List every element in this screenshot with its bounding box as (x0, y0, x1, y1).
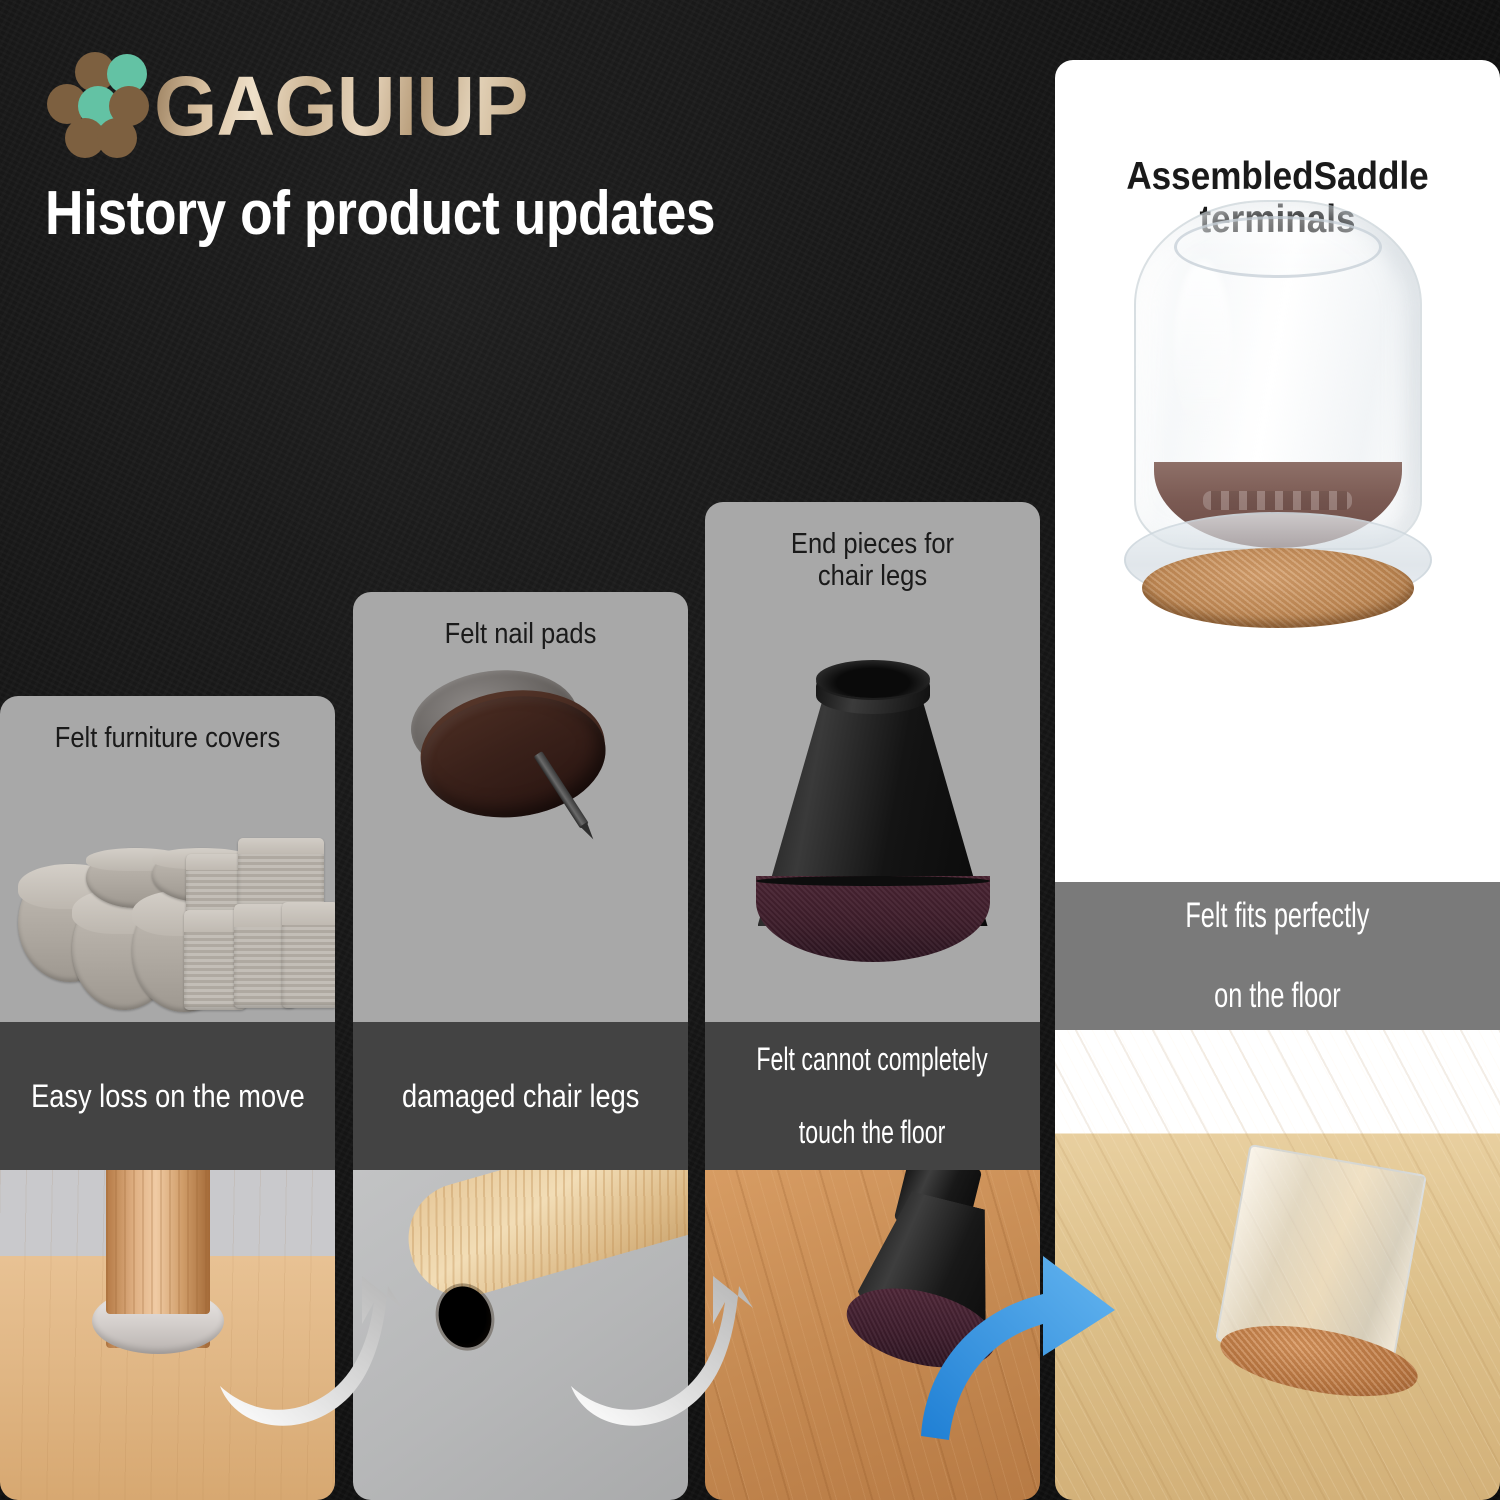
felt-pad-stacks-icon (0, 696, 335, 1022)
column-end-pieces-chair-legs[interactable]: End pieces for chair legs Felt cannot co… (705, 502, 1040, 1500)
caption-1: Easy loss on the move (0, 1022, 335, 1170)
photo-2 (353, 1170, 688, 1500)
photo-4 (1055, 1030, 1500, 1500)
page-title: History of product updates (45, 178, 715, 249)
column-felt-nail-pads[interactable]: Felt nail pads damaged chair legs (353, 592, 688, 1500)
caption-4-line1: Felt fits perfectly (1185, 896, 1369, 936)
caption-3-text: Felt cannot completely touch the floor (736, 1041, 1008, 1150)
brand-name: GAGUIUP (154, 64, 527, 148)
felt-nail-pad-icon (353, 592, 688, 1022)
caption-4-text: Felt fits perfectly on the floor (1169, 896, 1386, 1016)
caption-1-text: Easy loss on the move (31, 1078, 305, 1114)
product-panel-1: Felt furniture covers (0, 696, 335, 1022)
caption-2: damaged chair legs (353, 1022, 688, 1170)
caption-2-text: damaged chair legs (402, 1078, 639, 1114)
caption-4: Felt fits perfectly on the floor (1055, 882, 1500, 1030)
column-assembled-saddle-terminals[interactable]: AssembledSaddle terminals Felt fits perf… (1055, 60, 1500, 1500)
caption-3-line1: Felt cannot completely (757, 1041, 988, 1077)
caption-4-line2: on the floor (1185, 976, 1369, 1016)
black-cone-cap-icon (705, 502, 1040, 1022)
flower-dots-logo-icon (45, 52, 150, 160)
product-panel-3: End pieces for chair legs (705, 502, 1040, 1022)
photo-1 (0, 1170, 335, 1500)
caption-3-line2: touch the floor (757, 1114, 988, 1150)
column-felt-furniture-covers[interactable]: Felt furniture covers Easy loss on the m… (0, 696, 335, 1500)
clear-silicone-dome-cap-icon (1055, 60, 1500, 882)
header: GAGUIUP History of product updates (0, 0, 1040, 300)
photo-3 (705, 1170, 1040, 1500)
caption-3: Felt cannot completely touch the floor (705, 1022, 1040, 1170)
product-panel-2: Felt nail pads (353, 592, 688, 1022)
product-panel-4-featured: AssembledSaddle terminals (1055, 60, 1500, 882)
brand-logo: GAGUIUP (45, 52, 539, 160)
